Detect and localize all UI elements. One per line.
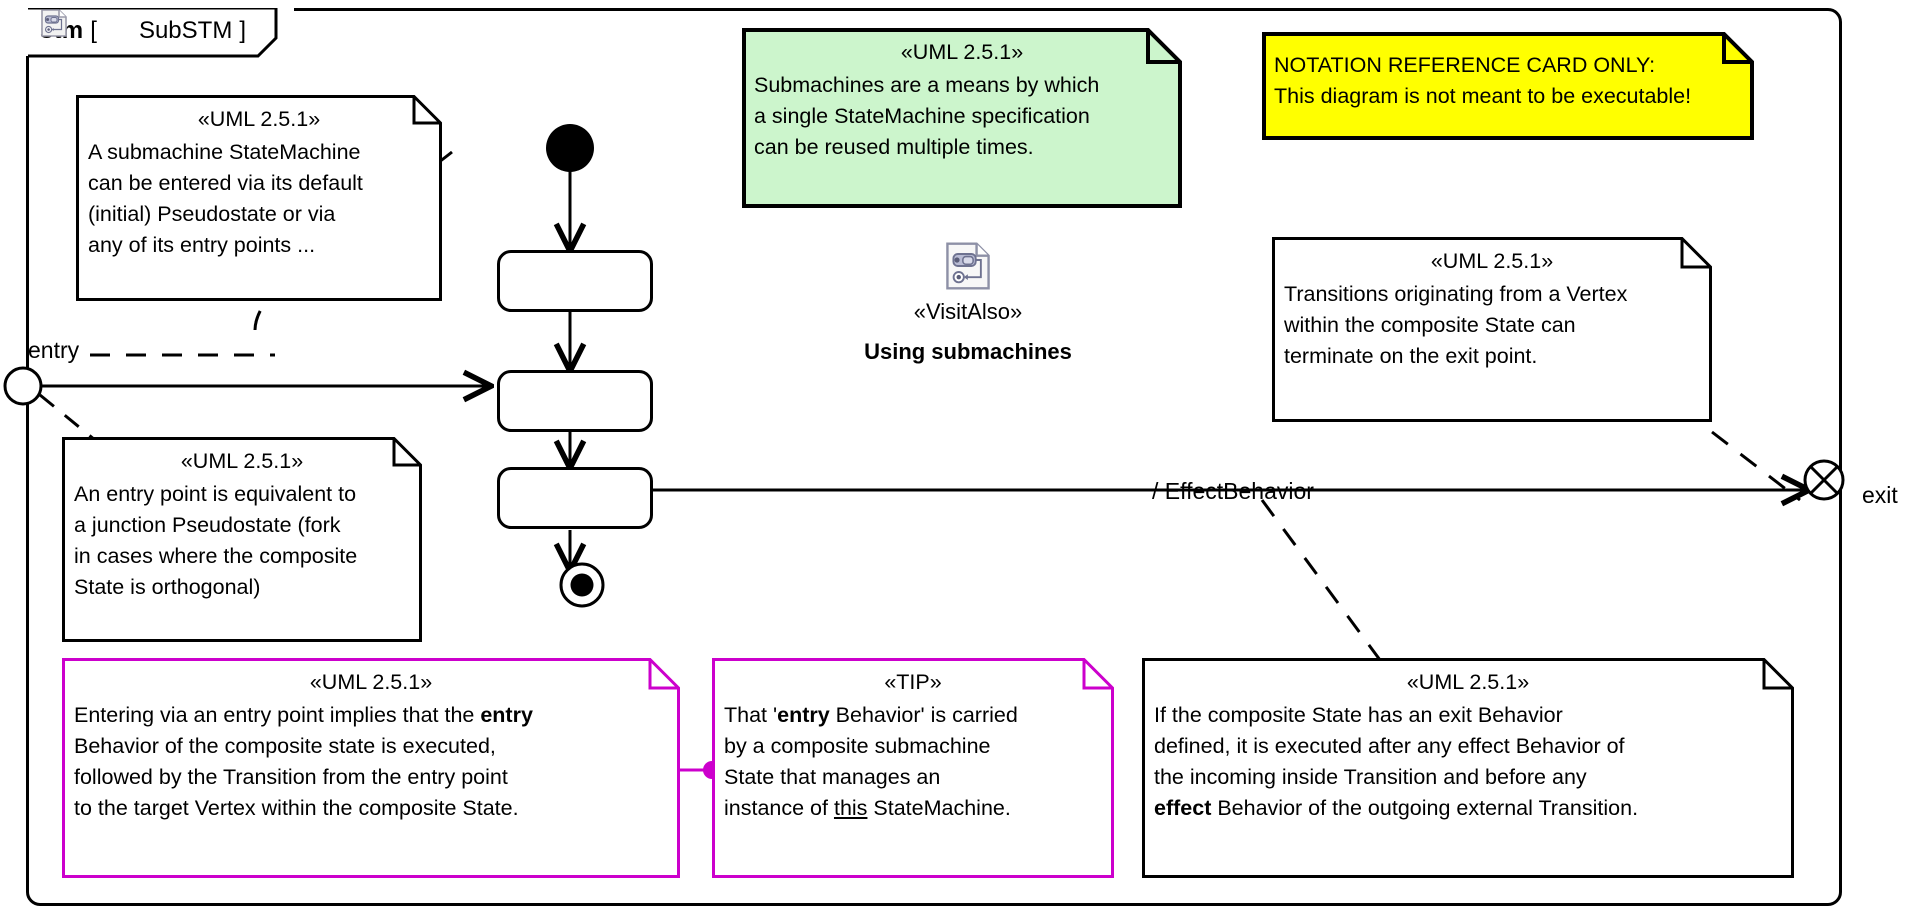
note-line: State is orthogonal) (74, 572, 410, 603)
effect-behavior-label: / EffectBehavior (1152, 478, 1314, 505)
note-stereotype: «UML 2.5.1» (1154, 668, 1782, 697)
note-line: a junction Pseudostate (fork (74, 510, 410, 541)
note-line: A submachine StateMachine (88, 137, 430, 168)
note-line: terminate on the exit point. (1284, 341, 1700, 372)
state-3[interactable] (497, 467, 653, 529)
note-exit-behavior: «UML 2.5.1» If the composite State has a… (1142, 658, 1794, 878)
note-line: can be entered via its default (88, 168, 430, 199)
visit-also-title: Using submachines (828, 337, 1108, 367)
note-line: any of its entry points ... (88, 230, 430, 261)
note-line: NOTATION REFERENCE CARD ONLY: (1274, 50, 1742, 81)
frame-bracket-close: ] (239, 17, 246, 45)
note-notation-card: NOTATION REFERENCE CARD ONLY: This diagr… (1262, 32, 1754, 140)
note-stereotype: «UML 2.5.1» (754, 38, 1170, 67)
statemachine-icon (944, 240, 992, 292)
frame-bracket-open: [ (90, 17, 97, 45)
note-submachine-entry: «UML 2.5.1» A submachine StateMachine ca… (76, 95, 442, 301)
exit-point-label: exit (1862, 482, 1898, 509)
diagram-canvas: stm [ SubSTM ] (0, 0, 1920, 924)
note-transitions-vertex: «UML 2.5.1» Transitions originating from… (1272, 237, 1712, 422)
statemachine-icon (104, 16, 132, 46)
frame-name-tab: stm [ SubSTM ] (26, 8, 294, 56)
state-2[interactable] (497, 370, 653, 432)
note-body: Entering via an entry point implies that… (74, 700, 668, 824)
note-line: a single StateMachine specification (754, 101, 1170, 132)
note-body: That 'entry Behavior' is carriedby a com… (724, 700, 1102, 824)
note-submachines-means: «UML 2.5.1» Submachines are a means by w… (742, 28, 1182, 208)
state-1[interactable] (497, 250, 653, 312)
note-line: in cases where the composite (74, 541, 410, 572)
note-stereotype: «UML 2.5.1» (74, 447, 410, 476)
frame-name-label: SubSTM (139, 17, 232, 45)
entry-point-label: entry (28, 337, 79, 364)
note-stereotype: «TIP» (724, 668, 1102, 697)
visit-also-stereotype: «VisitAlso» (828, 297, 1108, 327)
note-line: can be reused multiple times. (754, 132, 1170, 163)
note-entry-point-junction: «UML 2.5.1» An entry point is equivalent… (62, 437, 422, 642)
note-line: within the composite State can (1284, 310, 1700, 341)
note-stereotype: «UML 2.5.1» (74, 668, 668, 697)
note-line: Submachines are a means by which (754, 70, 1170, 101)
note-line: (initial) Pseudostate or via (88, 199, 430, 230)
note-line: This diagram is not meant to be executab… (1274, 81, 1742, 112)
note-line: An entry point is equivalent to (74, 479, 410, 510)
note-stereotype: «UML 2.5.1» (1284, 247, 1700, 276)
note-tip-entry-behavior: «TIP» That 'entry Behavior' is carriedby… (712, 658, 1114, 878)
note-line: Transitions originating from a Vertex (1284, 279, 1700, 310)
visit-also-block: «VisitAlso» Using submachines (828, 240, 1108, 367)
note-stereotype: «UML 2.5.1» (88, 105, 430, 134)
note-entering-via: «UML 2.5.1» Entering via an entry point … (62, 658, 680, 878)
note-body: If the composite State has an exit Behav… (1154, 700, 1782, 824)
